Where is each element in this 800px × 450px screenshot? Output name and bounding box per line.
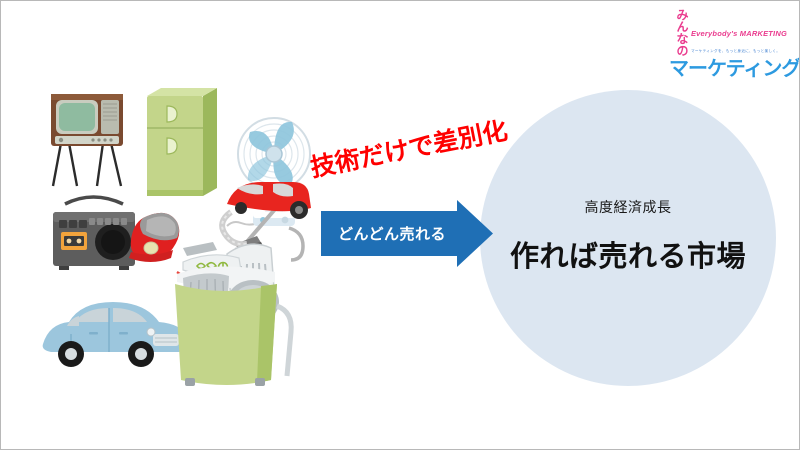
vacuum-cleaner-icon xyxy=(222,182,311,254)
sedan-car-icon xyxy=(43,302,189,367)
logo-tagline-group: Everybody's MARKETING マーケティングを、もっと身近に、もっ… xyxy=(691,24,787,57)
logo-brand-top: みんなの xyxy=(669,9,688,57)
red-caption-text: 技術だけで差別化 xyxy=(307,111,510,185)
circle-title: 作れば売れる市場 xyxy=(470,233,786,275)
retro-television-icon xyxy=(51,94,123,186)
arrow-label: どんどん売れる xyxy=(331,223,453,244)
twin-tub-washing-machine-icon xyxy=(175,242,291,386)
logo-tagline: Everybody's MARKETING xyxy=(691,29,787,38)
logo-brand-main: マーケティング xyxy=(669,59,787,79)
logo-tagline-sub: マーケティングを、もっと身近に、もっと楽しく。 xyxy=(691,49,780,53)
logo-top-row: みんなの Everybody's MARKETING マーケティングを、もっと身… xyxy=(669,9,787,57)
brand-logo: みんなの Everybody's MARKETING マーケティングを、もっと身… xyxy=(669,9,787,55)
circle-subtitle: 高度経済成長 xyxy=(480,197,776,217)
appliance-illustration-group xyxy=(31,76,321,396)
refrigerator-icon xyxy=(147,88,217,196)
slide-canvas: みんなの Everybody's MARKETING マーケティングを、もっと身… xyxy=(0,0,800,450)
boombox-radio-cassette-icon xyxy=(53,197,135,270)
